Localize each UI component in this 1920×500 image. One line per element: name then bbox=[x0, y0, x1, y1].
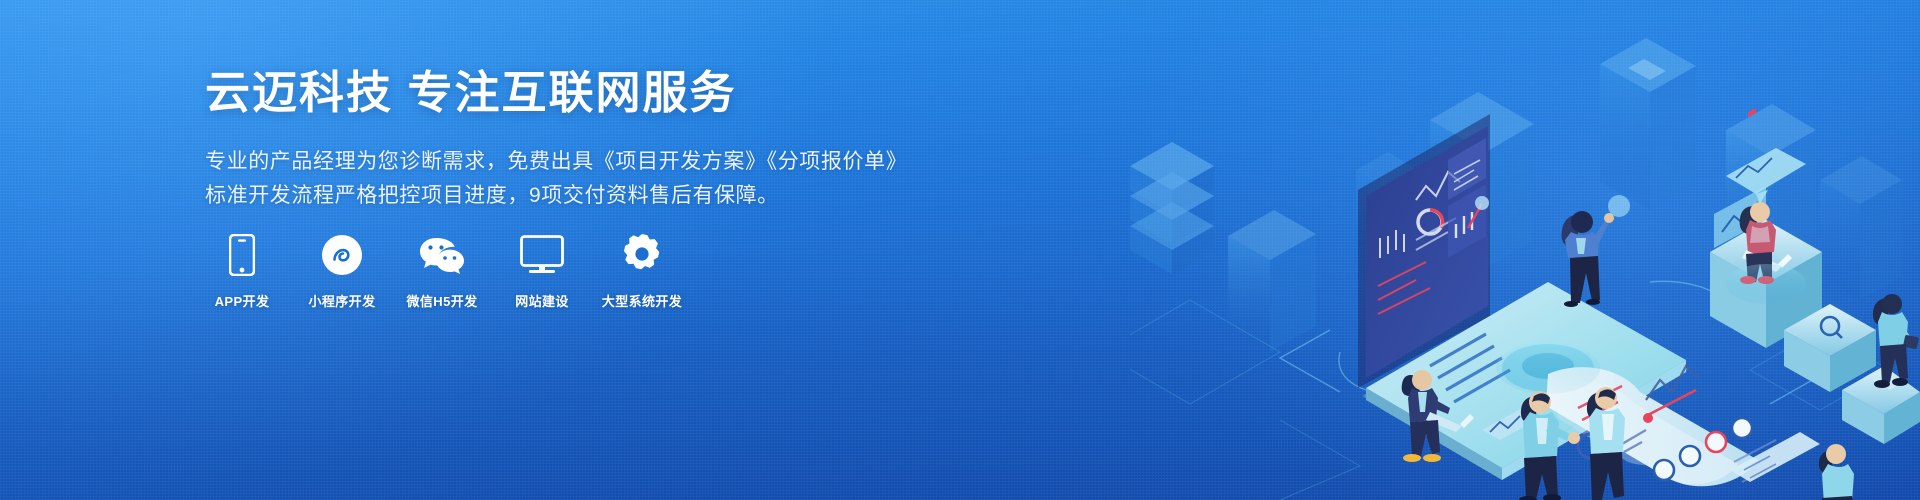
service-label-website: 网站建设 bbox=[515, 291, 569, 310]
service-item-mini-program[interactable]: 小程序开发 bbox=[305, 232, 379, 310]
service-label-large-system: 大型系统开发 bbox=[602, 291, 682, 310]
hero-illustration bbox=[1130, 0, 1920, 500]
mini-program-icon bbox=[319, 232, 365, 278]
server-stack bbox=[1130, 142, 1214, 274]
hero-copy: 云迈科技 专注互联网服务 专业的产品经理为您诊断需求，免费出具《项目开发方案》《… bbox=[205, 66, 905, 213]
service-item-wechat-h5[interactable]: 微信H5开发 bbox=[405, 232, 479, 310]
monitor-icon bbox=[519, 232, 565, 278]
page-title: 云迈科技 专注互联网服务 bbox=[205, 66, 905, 119]
service-item-large-system[interactable]: 大型系统开发 bbox=[605, 232, 679, 310]
mobile-phone-icon bbox=[219, 232, 265, 278]
service-list: APP开发 小程序开发 微信 bbox=[205, 232, 679, 310]
standing-person-presenter bbox=[1562, 195, 1630, 307]
service-item-app[interactable]: APP开发 bbox=[205, 232, 279, 310]
wechat-icon bbox=[419, 232, 465, 278]
service-label-app: APP开发 bbox=[215, 291, 270, 310]
service-label-wechat-h5: 微信H5开发 bbox=[406, 291, 477, 310]
gear-icon bbox=[619, 232, 665, 278]
subtitle-line-1: 专业的产品经理为您诊断需求，免费出具《项目开发方案》《分项报价单》 bbox=[205, 145, 905, 179]
service-label-mini-program: 小程序开发 bbox=[308, 291, 375, 310]
subtitle-line-2: 标准开发流程严格把控项目进度，9项交付资料售后有保障。 bbox=[205, 179, 905, 213]
service-item-website[interactable]: 网站建设 bbox=[505, 232, 579, 310]
hero-banner: 云迈科技 专注互联网服务 专业的产品经理为您诊断需求，免费出具《项目开发方案》《… bbox=[0, 0, 1920, 500]
